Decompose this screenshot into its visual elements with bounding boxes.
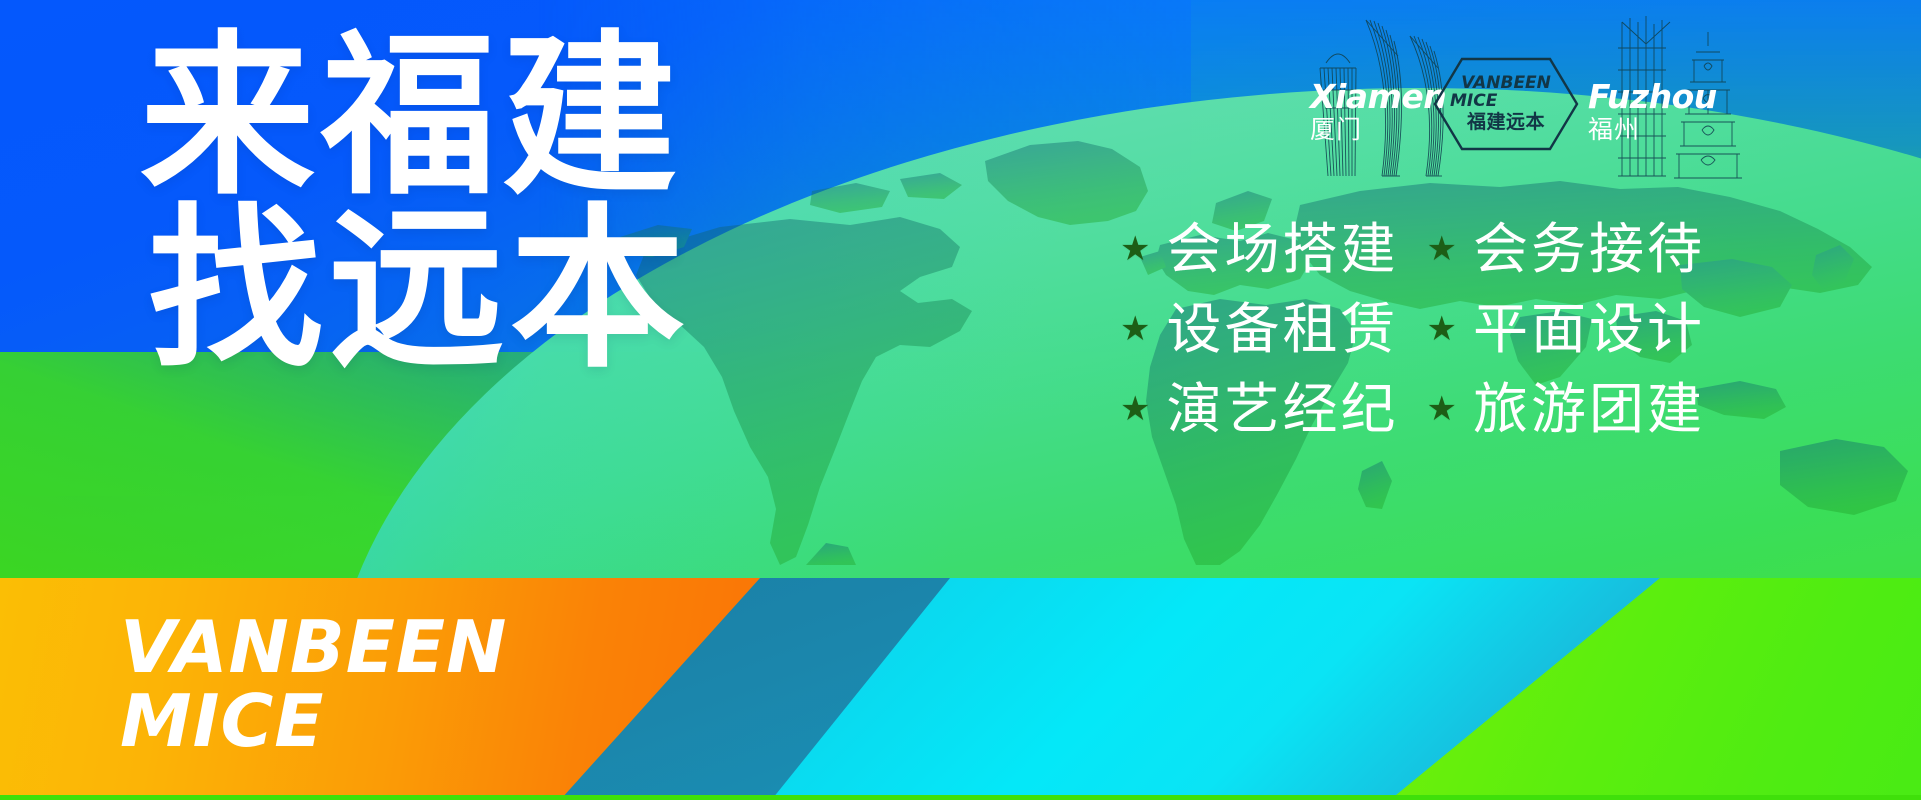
service-label: 会务接待: [1473, 212, 1705, 286]
city-name-en: Xiamen: [1310, 80, 1446, 113]
bottom-color-band: VANBEEN MICE: [0, 578, 1921, 800]
city-name-en: Fuzhou: [1588, 80, 1717, 113]
star-icon: ★: [1427, 312, 1457, 346]
headline-line-1: 来福建: [140, 36, 691, 199]
service-label: 设备租赁: [1166, 292, 1398, 366]
bottom-brand-lockup: VANBEEN MICE: [120, 610, 507, 758]
services-list: ★ 会场搭建 ★ 会务接待 ★ 设备租赁 ★ 平面设计 ★ 演艺经纪 ★ 旅游团…: [1120, 212, 1705, 446]
city-name-cn: 厦门: [1310, 117, 1446, 142]
service-label: 会场搭建: [1166, 212, 1398, 286]
star-icon: ★: [1120, 232, 1150, 266]
city-label-fuzhou: Fuzhou 福州: [1588, 80, 1717, 142]
headline: 来福建 找远本: [140, 36, 691, 372]
star-icon: ★: [1120, 392, 1150, 426]
city-name-cn: 福州: [1588, 117, 1717, 142]
bottom-brand-line-1: VANBEEN: [120, 610, 507, 684]
bottom-brand-line-2: MICE: [120, 684, 507, 758]
service-item[interactable]: ★ 旅游团建: [1427, 372, 1706, 446]
service-label: 演艺经纪: [1166, 372, 1398, 446]
hexagon-logo-text: VANBEEN MICE 福建远本: [1432, 56, 1580, 152]
service-item[interactable]: ★ 会务接待: [1427, 212, 1706, 286]
brand-cn: 福建远本: [1467, 113, 1545, 133]
service-item[interactable]: ★ 设备租赁: [1120, 292, 1399, 366]
service-label: 旅游团建: [1473, 372, 1705, 446]
service-item[interactable]: ★ 演艺经纪: [1120, 372, 1399, 446]
brand-en-line-2: MICE: [1450, 93, 1497, 111]
city-landmark-strip: Xiamen 厦门 Fuzhou 福州 VANBEEN MICE 福建远本: [1300, 8, 1770, 188]
city-label-xiamen: Xiamen 厦门: [1310, 80, 1446, 142]
star-icon: ★: [1427, 232, 1457, 266]
star-icon: ★: [1427, 392, 1457, 426]
vanbeen-hexagon-logo[interactable]: VANBEEN MICE 福建远本: [1432, 56, 1580, 152]
band-bottom-rule: [0, 795, 1921, 800]
star-icon: ★: [1120, 312, 1150, 346]
service-item[interactable]: ★ 会场搭建: [1120, 212, 1399, 286]
headline-line-2: 找远本: [148, 209, 691, 372]
service-label: 平面设计: [1473, 292, 1705, 366]
promotional-banner: 来福建 找远本: [0, 0, 1921, 800]
service-item[interactable]: ★ 平面设计: [1427, 292, 1706, 366]
